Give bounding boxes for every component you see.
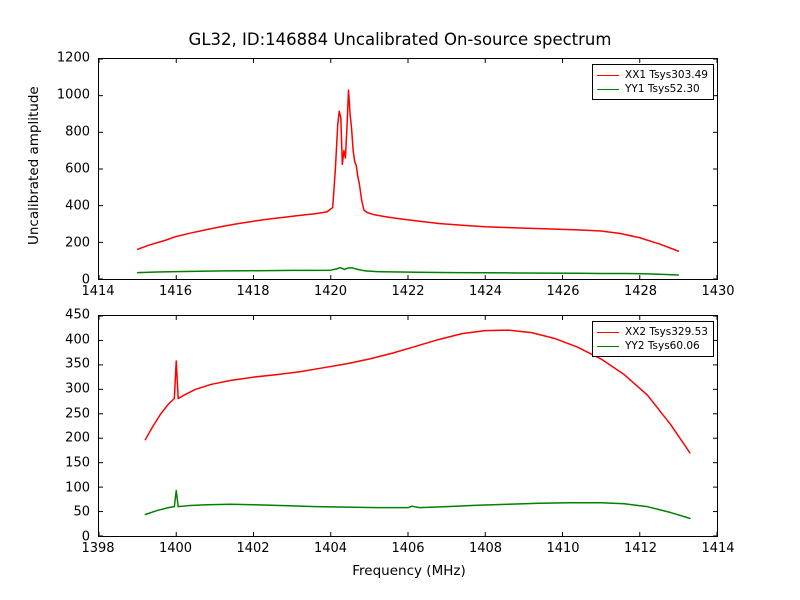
top-x-tick-label: 1418 xyxy=(236,284,269,299)
top-x-tick-label: 1428 xyxy=(624,284,657,299)
data-series-line xyxy=(138,90,679,251)
top-x-tick-label: 1426 xyxy=(546,284,579,299)
bottom-y-tick-label: 150 xyxy=(38,456,90,471)
bottom-y-tick-label: 400 xyxy=(38,332,90,347)
legend-color-swatch xyxy=(597,75,619,76)
bottom-y-tick-label: 250 xyxy=(38,406,90,421)
top-y-tick-label: 0 xyxy=(38,273,90,288)
legend-entry: YY1 Tsys52.30 xyxy=(597,82,708,96)
top-x-tick-label: 1416 xyxy=(159,284,192,299)
bottom-x-tick-label: 1404 xyxy=(314,541,347,556)
page-title: GL32, ID:146884 Uncalibrated On-source s… xyxy=(0,30,800,49)
legend-color-swatch xyxy=(597,332,619,333)
bottom-panel-x-axis-label: Frequency (MHz) xyxy=(0,563,800,579)
legend-entry: XX1 Tsys303.49 xyxy=(597,68,708,82)
top-y-tick-label: 800 xyxy=(38,125,90,140)
legend-color-swatch xyxy=(597,89,619,90)
bottom-y-tick-label: 50 xyxy=(38,505,90,520)
top-y-tick-label: 200 xyxy=(38,236,90,251)
figure-canvas: GL32, ID:146884 Uncalibrated On-source s… xyxy=(0,0,800,600)
top-panel-legend: XX1 Tsys303.49YY1 Tsys52.30 xyxy=(592,64,714,100)
bottom-y-tick-label: 300 xyxy=(38,382,90,397)
bottom-x-tick-label: 1410 xyxy=(546,541,579,556)
data-series-line xyxy=(138,268,679,275)
legend-entry-label: XX1 Tsys303.49 xyxy=(625,69,708,82)
bottom-panel-legend: XX2 Tsys329.53YY2 Tsys60.06 xyxy=(592,321,714,357)
bottom-x-tick-label: 1414 xyxy=(701,541,734,556)
bottom-x-tick-label: 1400 xyxy=(159,541,192,556)
data-series-line xyxy=(145,491,690,519)
top-x-tick-label: 1420 xyxy=(314,284,347,299)
top-y-tick-label: 400 xyxy=(38,199,90,214)
bottom-y-tick-label: 0 xyxy=(38,530,90,545)
bottom-y-tick-label: 100 xyxy=(38,480,90,495)
legend-entry-label: YY2 Tsys60.06 xyxy=(625,340,700,353)
legend-entry: XX2 Tsys329.53 xyxy=(597,325,708,339)
top-y-tick-label: 1000 xyxy=(38,88,90,103)
legend-entry-label: XX2 Tsys329.53 xyxy=(625,326,708,339)
bottom-x-tick-label: 1408 xyxy=(469,541,502,556)
top-x-tick-label: 1430 xyxy=(701,284,734,299)
top-x-tick-label: 1422 xyxy=(391,284,424,299)
legend-entry-label: YY1 Tsys52.30 xyxy=(625,83,700,96)
bottom-x-tick-label: 1412 xyxy=(624,541,657,556)
top-y-tick-label: 600 xyxy=(38,162,90,177)
bottom-x-tick-label: 1402 xyxy=(236,541,269,556)
top-x-tick-label: 1424 xyxy=(469,284,502,299)
legend-color-swatch xyxy=(597,346,619,347)
bottom-x-tick-label: 1406 xyxy=(391,541,424,556)
legend-entry: YY2 Tsys60.06 xyxy=(597,339,708,353)
bottom-y-tick-label: 350 xyxy=(38,357,90,372)
bottom-y-tick-label: 450 xyxy=(38,308,90,323)
bottom-y-tick-label: 200 xyxy=(38,431,90,446)
top-y-tick-label: 1200 xyxy=(38,51,90,66)
